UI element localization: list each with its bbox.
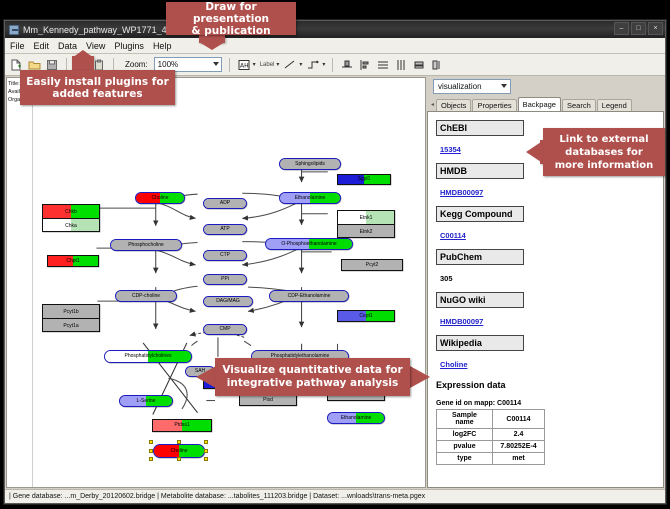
label-tool-button[interactable]: Label bbox=[260, 62, 275, 68]
menu-view[interactable]: View bbox=[86, 41, 105, 51]
stack-icon[interactable] bbox=[412, 58, 426, 72]
align-top-icon[interactable] bbox=[340, 58, 354, 72]
callout-line: Draw for presentation bbox=[172, 1, 290, 25]
callout-easily-install-plugins: Easily install plugins for added feature… bbox=[20, 70, 175, 105]
metabolite-node[interactable]: CMP bbox=[203, 324, 247, 335]
selection-handle[interactable] bbox=[149, 449, 153, 453]
node-label: Sphingolipids bbox=[295, 162, 325, 167]
app-icon bbox=[9, 25, 19, 35]
gene-node[interactable]: Chkb bbox=[43, 205, 99, 219]
gene-node[interactable]: Sgpl1 bbox=[337, 174, 391, 185]
status-bar: | Gene database: ...m_Derby_20120602.bri… bbox=[5, 489, 665, 503]
metabolite-node[interactable]: ATP bbox=[203, 224, 247, 235]
gene-node[interactable]: Ptdss1 bbox=[152, 419, 212, 432]
node-label: Pisd bbox=[263, 398, 273, 403]
database-name-header: ChEBI bbox=[436, 120, 524, 136]
node-label: Pcyt2 bbox=[366, 263, 379, 268]
tab-search[interactable]: Search bbox=[562, 99, 596, 111]
node-label: Phosphocholine bbox=[128, 243, 164, 248]
gene-node[interactable]: Pcyt1b bbox=[43, 305, 99, 319]
tab-backpage[interactable]: Backpage bbox=[518, 97, 561, 111]
svg-text:AH: AH bbox=[240, 62, 249, 69]
expression-key: log2FC bbox=[437, 429, 493, 441]
database-id-link[interactable]: HMDB00097 bbox=[440, 317, 483, 326]
selection-handle[interactable] bbox=[204, 457, 208, 461]
table-row: Sample nameC00114 bbox=[437, 410, 545, 429]
callout-plugins-stem bbox=[72, 56, 94, 71]
table-row: pvalue7.80252E-4 bbox=[437, 441, 545, 453]
selected-metabolite-node[interactable]: Choline bbox=[153, 444, 205, 458]
gene-node-stack[interactable]: Etnk1Etnk2 bbox=[337, 210, 395, 238]
callout-line: integrative pathway analysis bbox=[222, 377, 402, 390]
menu-edit[interactable]: Edit bbox=[34, 41, 50, 51]
toolbar-separator bbox=[332, 58, 333, 72]
node-label: ATP bbox=[220, 227, 229, 232]
menu-bar: File Edit Data View Plugins Help bbox=[5, 38, 665, 54]
database-name-header: Wikipedia bbox=[436, 335, 524, 351]
metabolite-node[interactable]: PPi bbox=[203, 274, 247, 285]
metabolite-node[interactable]: O-Phosphoethanolamine bbox=[265, 238, 353, 250]
gene-node-stack[interactable]: Pcyt1bPcyt1a bbox=[42, 304, 100, 332]
menu-help[interactable]: Help bbox=[153, 41, 172, 51]
node-label: PPi bbox=[221, 277, 229, 282]
text-tool-icon[interactable]: AH bbox=[237, 58, 251, 72]
database-name-header: NuGO wiki bbox=[436, 292, 524, 308]
chevron-down-icon[interactable]: ▾ bbox=[322, 61, 325, 68]
zoom-label: Zoom: bbox=[125, 60, 148, 69]
node-label: DAG/MAG bbox=[216, 299, 240, 304]
node-label: Etnk2 bbox=[360, 229, 373, 235]
node-label: Ethanolamine bbox=[295, 196, 326, 201]
callout-visualize-arrow-right bbox=[410, 366, 430, 388]
node-label: Pcyt1b bbox=[63, 309, 78, 315]
visualization-select[interactable]: visualization bbox=[433, 79, 511, 94]
selection-handle[interactable] bbox=[204, 449, 208, 453]
chevron-down-icon[interactable]: ▾ bbox=[253, 61, 256, 68]
database-entry: PubChem305 bbox=[436, 249, 663, 292]
panel-tabs: ◂ Objects Properties Backpage Search Leg… bbox=[427, 97, 664, 111]
node-label: Chpt1 bbox=[66, 259, 79, 264]
node-label: Choline bbox=[171, 449, 188, 454]
callout-line: Easily install plugins for bbox=[26, 76, 169, 88]
tab-objects[interactable]: Objects bbox=[436, 99, 471, 111]
node-label: Etnk1 bbox=[360, 215, 373, 221]
callout-visualize-arrow-left bbox=[196, 366, 216, 388]
metabolite-node[interactable]: CDP-Ethanolamine bbox=[269, 290, 349, 302]
zoom-value: 100% bbox=[158, 60, 178, 69]
database-id-value: 305 bbox=[440, 274, 453, 283]
node-label: Pcyt1a bbox=[63, 323, 78, 329]
callout-line: Link to external bbox=[555, 133, 654, 146]
visualization-select-value: visualization bbox=[438, 82, 482, 91]
metabolite-node[interactable]: L-Serine bbox=[119, 395, 173, 407]
selection-handle[interactable] bbox=[149, 457, 153, 461]
node-label: Choline bbox=[152, 196, 169, 201]
expression-value: 2.4 bbox=[493, 429, 545, 441]
expression-key: type bbox=[437, 453, 493, 465]
expression-data-table: Sample nameC00114log2FC2.4pvalue7.80252E… bbox=[436, 409, 545, 465]
node-label: ADP bbox=[220, 201, 230, 206]
expression-key: pvalue bbox=[437, 441, 493, 453]
selection-handle[interactable] bbox=[149, 440, 153, 444]
tab-properties[interactable]: Properties bbox=[472, 99, 516, 111]
chevron-down-icon[interactable] bbox=[213, 62, 219, 66]
menu-file[interactable]: File bbox=[10, 41, 25, 51]
window-buttons: – □ × bbox=[614, 22, 663, 35]
status-bar-text: | Gene database: ...m_Derby_20120602.bri… bbox=[9, 493, 425, 500]
node-label: Ptdss1 bbox=[174, 423, 189, 428]
expression-value: C00114 bbox=[493, 410, 545, 429]
node-label: Chkb bbox=[65, 209, 77, 215]
metabolite-node[interactable]: Ethanolamine bbox=[327, 412, 385, 424]
node-label: CTP bbox=[220, 253, 230, 258]
node-label: L-Serine bbox=[137, 399, 156, 404]
database-id-link[interactable]: Choline bbox=[440, 360, 468, 369]
callout-line: databases for bbox=[555, 146, 654, 159]
metabolite-node[interactable]: Choline bbox=[153, 444, 205, 458]
database-entry: WikipediaCholine bbox=[436, 335, 663, 378]
table-row: typemet bbox=[437, 453, 545, 465]
gene-node[interactable]: Etnk2 bbox=[338, 225, 394, 238]
database-id-link[interactable]: HMDB00097 bbox=[440, 188, 483, 197]
node-label: Cept1 bbox=[359, 314, 372, 319]
align-left-icon[interactable] bbox=[358, 58, 372, 72]
selection-handle[interactable] bbox=[177, 440, 181, 444]
expression-data-heading: Expression data bbox=[436, 380, 663, 390]
gene-node[interactable]: Etnk1 bbox=[338, 211, 394, 225]
callout-links-arrow bbox=[526, 140, 544, 164]
pathway-canvas[interactable]: Title: Availa Organi bbox=[6, 77, 426, 488]
callout-line: Visualize quantitative data for bbox=[222, 364, 402, 377]
gene-node[interactable]: Cept1 bbox=[337, 310, 395, 322]
callout-line: more information bbox=[555, 159, 654, 172]
metabolite-node[interactable]: CTP bbox=[203, 250, 247, 261]
database-name-header: HMDB bbox=[436, 163, 524, 179]
node-label: CMP bbox=[219, 327, 230, 332]
tab-legend[interactable]: Legend bbox=[597, 99, 632, 111]
callout-visualize-quantitative-data: Visualize quantitative data for integrat… bbox=[215, 358, 410, 396]
distribute-vertical-icon[interactable] bbox=[376, 58, 390, 72]
callout-plugins-arrow bbox=[72, 50, 94, 58]
metabolite-node[interactable]: CDP-choline bbox=[115, 290, 177, 302]
node-label: CDP-Ethanolamine bbox=[288, 294, 331, 299]
database-name-header: Kegg Compound bbox=[436, 206, 524, 222]
metabolite-node[interactable]: DAG/MAG bbox=[203, 296, 253, 307]
title-bar: Mm_Kennedy_pathway_WP1771_45176.gpml – □… bbox=[5, 21, 665, 38]
node-label: Phosphatidylcholines bbox=[125, 354, 172, 359]
chevron-down-icon[interactable] bbox=[501, 84, 507, 88]
menu-plugins[interactable]: Plugins bbox=[114, 41, 144, 51]
selection-handle[interactable] bbox=[204, 440, 208, 444]
gene-node-stack[interactable]: ChkbChka bbox=[42, 204, 100, 232]
metabolite-node[interactable]: Sphingolipids bbox=[279, 158, 341, 170]
metabolite-node[interactable]: Ethanolamine bbox=[279, 192, 341, 204]
expression-value: met bbox=[493, 453, 545, 465]
database-entry: NuGO wikiHMDB00097 bbox=[436, 292, 663, 335]
expression-value: 7.80252E-4 bbox=[493, 441, 545, 453]
metabolite-node[interactable]: Phosphocholine bbox=[110, 239, 182, 251]
menu-data[interactable]: Data bbox=[58, 41, 77, 51]
database-entry: Kegg CompoundC00114 bbox=[436, 206, 663, 249]
line-tool-icon[interactable] bbox=[283, 58, 297, 72]
node-label: Ethanolamine bbox=[341, 416, 372, 421]
node-label: Chka bbox=[65, 223, 77, 229]
gene-id-line: Gene id on mapp: C00114 bbox=[436, 400, 663, 407]
minimize-button[interactable]: – bbox=[614, 22, 629, 35]
selection-handle[interactable] bbox=[177, 457, 181, 461]
maximize-button[interactable]: □ bbox=[631, 22, 646, 35]
callout-line: added features bbox=[26, 88, 169, 100]
metabolite-node[interactable]: ADP bbox=[203, 198, 247, 209]
database-id-link[interactable]: 15354 bbox=[440, 145, 461, 154]
callout-draw-for-presentation: Draw for presentation & publication bbox=[166, 2, 296, 35]
close-button[interactable]: × bbox=[648, 22, 663, 35]
node-label: CDP-choline bbox=[132, 294, 160, 299]
metabolite-node[interactable]: Choline bbox=[135, 192, 185, 204]
node-label: Sgpl1 bbox=[358, 177, 371, 182]
distribute-horizontal-icon[interactable] bbox=[394, 58, 408, 72]
expression-key: Sample name bbox=[437, 410, 493, 429]
connector-tool-icon[interactable] bbox=[306, 58, 320, 72]
table-row: log2FC2.4 bbox=[437, 429, 545, 441]
callout-line: & publication bbox=[172, 25, 290, 37]
callout-draw-arrow bbox=[199, 42, 225, 50]
database-id-link[interactable]: C00114 bbox=[440, 231, 466, 240]
gene-node[interactable]: Pcyt1a bbox=[43, 319, 99, 332]
callout-link-to-external-databases: Link to external databases for more info… bbox=[543, 128, 665, 176]
metabolite-node[interactable]: Phosphatidylcholines bbox=[104, 350, 192, 363]
node-label: O-Phosphoethanolamine bbox=[281, 242, 336, 247]
chevron-down-icon[interactable]: ▾ bbox=[276, 61, 279, 68]
gene-node[interactable]: Chka bbox=[43, 219, 99, 232]
gene-node[interactable]: Chpt1 bbox=[47, 255, 99, 267]
gene-node[interactable]: Pcyt2 bbox=[341, 259, 403, 271]
group-icon[interactable] bbox=[430, 58, 444, 72]
database-name-header: PubChem bbox=[436, 249, 524, 265]
toolbar-separator bbox=[229, 58, 230, 72]
chevron-down-icon[interactable]: ▾ bbox=[299, 61, 302, 68]
